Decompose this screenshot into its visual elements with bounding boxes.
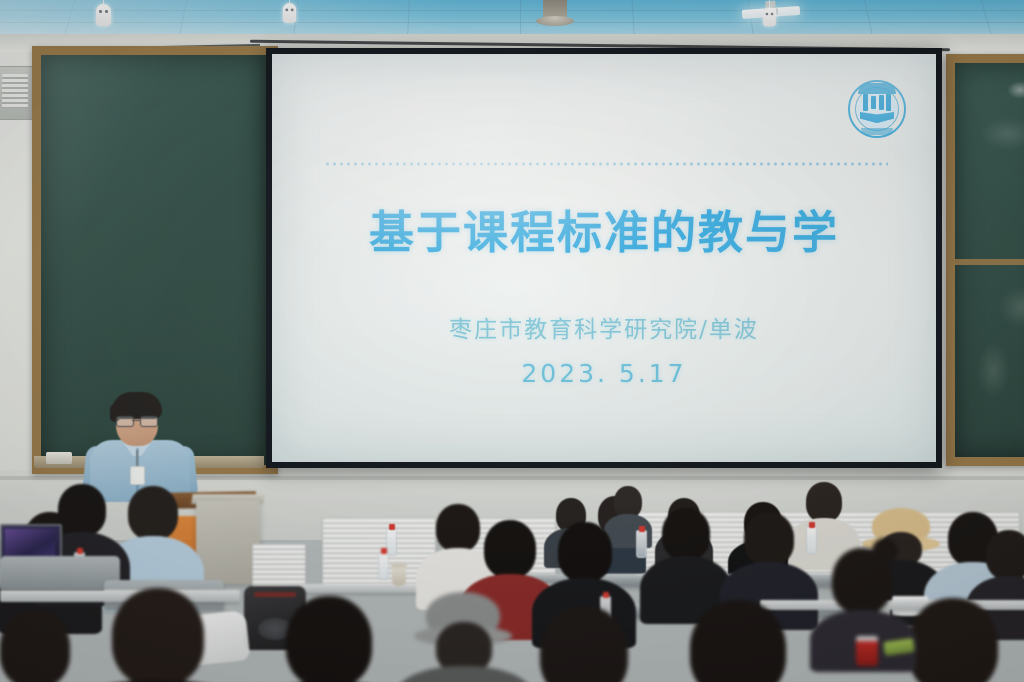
dotted-divider xyxy=(324,162,888,166)
slide-author: 枣庄市教育科学研究院/单波 xyxy=(272,310,936,344)
projector-mount-icon xyxy=(543,0,567,22)
desk-bar xyxy=(0,590,240,602)
presentation-slide: 基于课程标准的教与学 枣庄市教育科学研究院/单波 2023. 5.17 xyxy=(272,54,936,462)
ghost-ornament-icon xyxy=(763,8,776,27)
glasses-icon xyxy=(116,416,158,425)
seat-back xyxy=(0,556,120,590)
slide-title: 基于课程标准的教与学 xyxy=(272,196,936,261)
slide-date: 2023. 5.17 xyxy=(272,359,936,388)
school-emblem-icon xyxy=(848,80,906,138)
paper-cup-icon xyxy=(392,566,406,586)
ghost-ornament-icon xyxy=(283,3,297,23)
lectern-podium xyxy=(196,500,260,584)
ghost-ornament-icon xyxy=(96,4,111,26)
chalkboard-right xyxy=(946,54,1024,466)
desk-bar xyxy=(760,600,1024,610)
soda-can-icon xyxy=(856,636,878,666)
water-bottle-icon xyxy=(378,552,389,580)
presenter-hair xyxy=(112,392,162,419)
chalkboard-eraser-icon xyxy=(46,452,72,464)
water-bottle-icon xyxy=(636,530,647,558)
projection-screen[interactable]: 基于课程标准的教与学 枣庄市教育科学研究院/单波 2023. 5.17 xyxy=(266,48,942,468)
name-badge-icon xyxy=(130,466,145,485)
lecture-hall-scene: 基于课程标准的教与学 枣庄市教育科学研究院/单波 2023. 5.17 xyxy=(0,0,1024,682)
water-bottle-icon xyxy=(806,526,817,554)
presenter xyxy=(86,392,196,502)
